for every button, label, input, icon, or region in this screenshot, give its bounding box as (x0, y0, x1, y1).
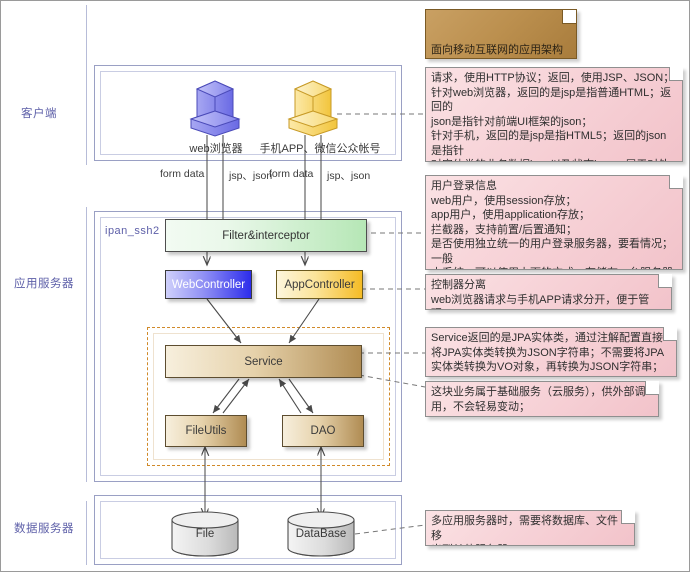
package-label-ipan-ssh2: ipan_ssh2 (105, 225, 160, 237)
edge-label-app-form-data: form data (269, 168, 313, 180)
note-fold-icon (669, 67, 683, 81)
edge-label-web-form-data: form data (160, 168, 204, 180)
caption-mobile-app: 手机APP、微信公众帐号 (250, 140, 390, 156)
note-fold-icon (669, 175, 683, 189)
box-file-utils[interactable]: FileUtils (165, 415, 247, 447)
note-fold-icon (663, 327, 677, 341)
lane-label-app-server: 应用服务器 (14, 275, 74, 291)
label-database-store: DataBase (291, 528, 351, 540)
edge-label-web-jsp-json: jsp、json (229, 168, 272, 183)
note-fold-icon (645, 381, 659, 395)
label-file-store: File (175, 528, 235, 540)
note-title: 面向移动互联网的应用架构 iPan 2014-05-09 (425, 9, 577, 59)
note-title-line1: 面向移动互联网的应用架构 (431, 43, 570, 58)
lane-data-server-inner (100, 501, 396, 559)
note-fold-icon (562, 10, 576, 24)
box-dao[interactable]: DAO (282, 415, 364, 447)
box-web-controller[interactable]: WebController (165, 270, 252, 299)
note-service-fold-wrap (425, 327, 677, 377)
edge-label-app-jsp-json: jsp、json (327, 168, 370, 183)
lane-label-client: 客户端 (21, 105, 57, 121)
note-datastore-fold-wrap (425, 510, 635, 546)
note-login-fold-wrap (425, 175, 683, 270)
note-fold-icon (621, 510, 635, 524)
note-fold-icon (658, 274, 672, 288)
lane-label-data-server: 数据服务器 (14, 520, 74, 536)
note-cloud-fold-wrap (425, 381, 659, 417)
box-app-controller[interactable]: AppController (276, 270, 363, 299)
lane-divider-middle (86, 207, 87, 482)
caption-web-browser: web浏览器 (171, 140, 261, 156)
box-filter-interceptor[interactable]: Filter&interceptor (165, 219, 367, 252)
lane-divider-top (86, 5, 87, 165)
lane-divider-bottom (86, 501, 87, 565)
diagram-canvas: 客户端 应用服务器 数据服务器 ipan_ssh2 (0, 0, 690, 572)
box-service[interactable]: Service (165, 345, 362, 378)
note-controller-fold-wrap (425, 274, 672, 310)
note-protocol-fold-wrap (425, 67, 683, 162)
